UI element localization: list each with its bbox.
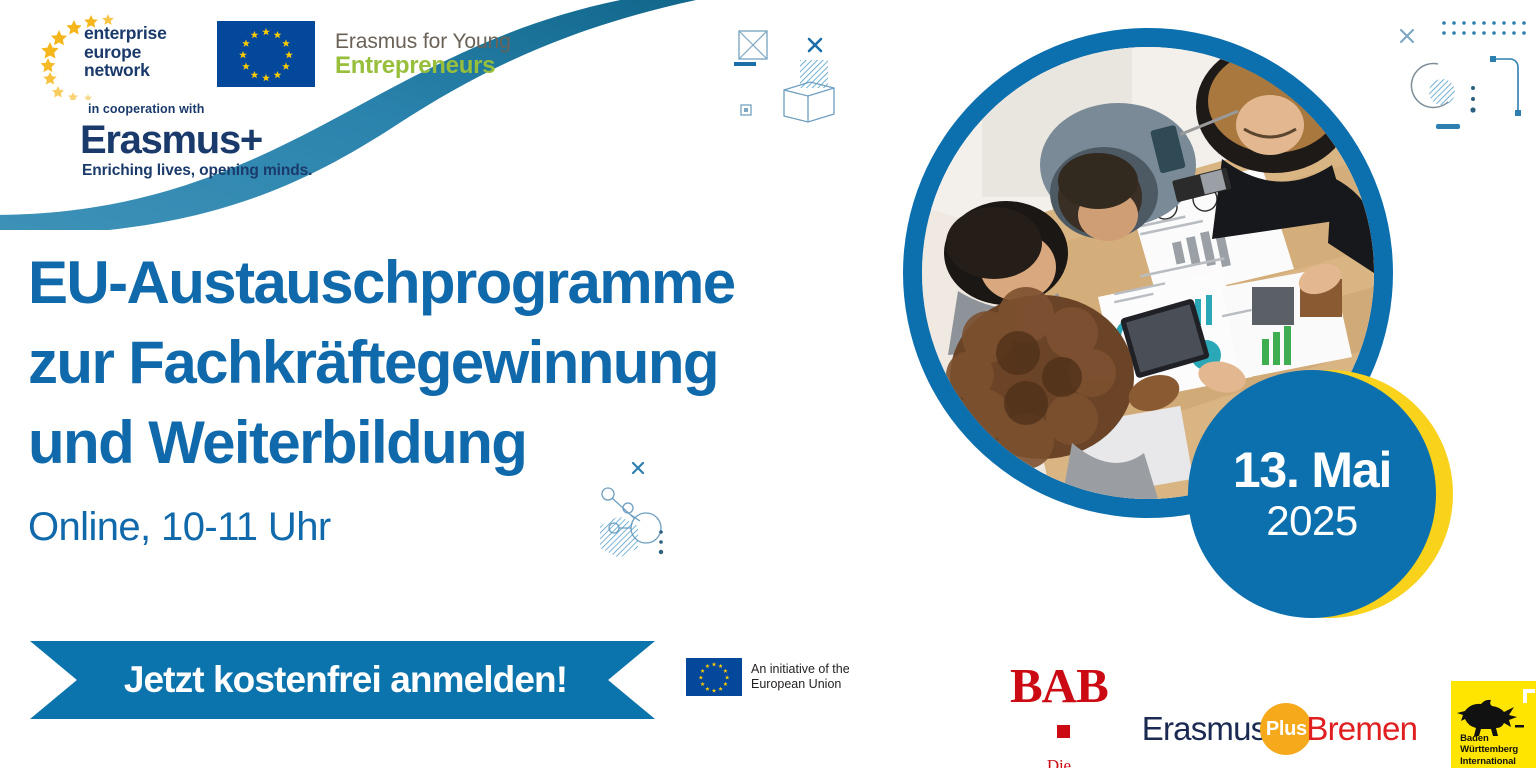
enterprise-europe-network-logo: enterprise europe network xyxy=(28,8,203,100)
vertical-dots-icon xyxy=(1468,84,1478,118)
partner-logos: BAB Die Förderbank Erasmus Plus Bremen B… xyxy=(1010,662,1536,768)
baden-wuerttemberg-international-logo: Baden Württemberg International xyxy=(1451,681,1536,768)
eu-flag-small-icon xyxy=(686,658,742,696)
eye-line-2: Entrepreneurs xyxy=(335,53,511,78)
headline-line-2: zur Fachkräftegewinnung xyxy=(28,323,868,403)
cta-label: Jetzt kostenfrei anmelden! xyxy=(30,641,655,719)
bab-name: BAB xyxy=(1010,658,1108,713)
bwi-line-2: Württemberg xyxy=(1460,744,1518,756)
event-banner: enterprise europe network xyxy=(0,0,1536,768)
headline-line-3: und Weiterbildung xyxy=(28,403,868,483)
x-mark-icon xyxy=(1398,27,1416,45)
x-mark-icon xyxy=(806,36,824,54)
eu-initiative-line-1: An initiative of the xyxy=(751,662,850,677)
event-subtitle: Online, 10-11 Uhr xyxy=(28,505,331,550)
een-line-3: network xyxy=(84,61,167,80)
dot-grid-icon xyxy=(1440,18,1532,42)
small-square-icon xyxy=(740,104,752,116)
eu-initiative-line-2: European Union xyxy=(751,677,850,692)
date-day: 13. Mai xyxy=(1233,443,1391,497)
arc-circle-icon xyxy=(1408,58,1464,114)
een-logo-row: enterprise europe network xyxy=(28,8,528,100)
dash-icon xyxy=(734,60,756,68)
crossed-square-icon xyxy=(736,28,772,64)
date-badge: 13. Mai 2025 xyxy=(1188,370,1436,618)
bab-dot-icon xyxy=(1057,725,1070,738)
eu-initiative-badge: An initiative of the European Union xyxy=(686,658,850,696)
bwi-line-1: Baden xyxy=(1460,733,1518,745)
erasmus-plus-wordmark: Erasmus+ xyxy=(80,118,528,162)
erasmus-young-entrepreneurs-wordmark: Erasmus for Young Entrepreneurs xyxy=(335,30,511,78)
cooperation-label: in cooperation with xyxy=(88,102,528,116)
bwi-line-3: International xyxy=(1460,756,1518,768)
page-title: EU-Austauschprogramme zur Fachkräftegewi… xyxy=(28,243,868,483)
erasmus-plus-tagline: Enriching lives, opening minds. xyxy=(82,162,528,180)
een-line-2: europe xyxy=(84,43,167,62)
register-cta-button[interactable]: Jetzt kostenfrei anmelden! xyxy=(30,641,655,719)
eye-line-1: Erasmus for Young xyxy=(335,30,511,53)
een-wordmark: enterprise europe network xyxy=(84,24,167,80)
date-year: 2025 xyxy=(1266,497,1357,545)
erasmus-plus-bremen-logo: Erasmus Plus Bremen xyxy=(1142,703,1417,755)
bab-logo: BAB Die Förderbank xyxy=(1010,662,1108,768)
eu-flag-icon xyxy=(217,21,315,87)
headline-line-1: EU-Austauschprogramme xyxy=(28,243,868,323)
logo-cluster: enterprise europe network xyxy=(28,8,528,180)
eu-initiative-text: An initiative of the European Union xyxy=(751,662,850,692)
eu-flag-small-stars-icon xyxy=(686,658,742,696)
vertical-dots-icon xyxy=(656,528,666,558)
bab-wordmark: BAB xyxy=(1010,662,1108,758)
epb-part-1: Erasmus xyxy=(1142,710,1267,748)
bwi-wordmark: Baden Württemberg International xyxy=(1460,733,1518,768)
epb-part-3: Bremen xyxy=(1306,710,1417,748)
bab-subtitle: Die Förderbank xyxy=(1010,756,1108,768)
dash-icon xyxy=(1436,122,1460,132)
een-line-1: enterprise xyxy=(84,24,167,43)
bracket-line-icon xyxy=(1490,55,1526,117)
epb-plus-circle-icon: Plus xyxy=(1260,703,1312,755)
cube-outline-icon xyxy=(780,74,838,130)
hatched-square-icon xyxy=(800,60,828,88)
eu-flag-stars-icon xyxy=(217,21,315,87)
hatched-hexagon-icon xyxy=(596,514,642,560)
